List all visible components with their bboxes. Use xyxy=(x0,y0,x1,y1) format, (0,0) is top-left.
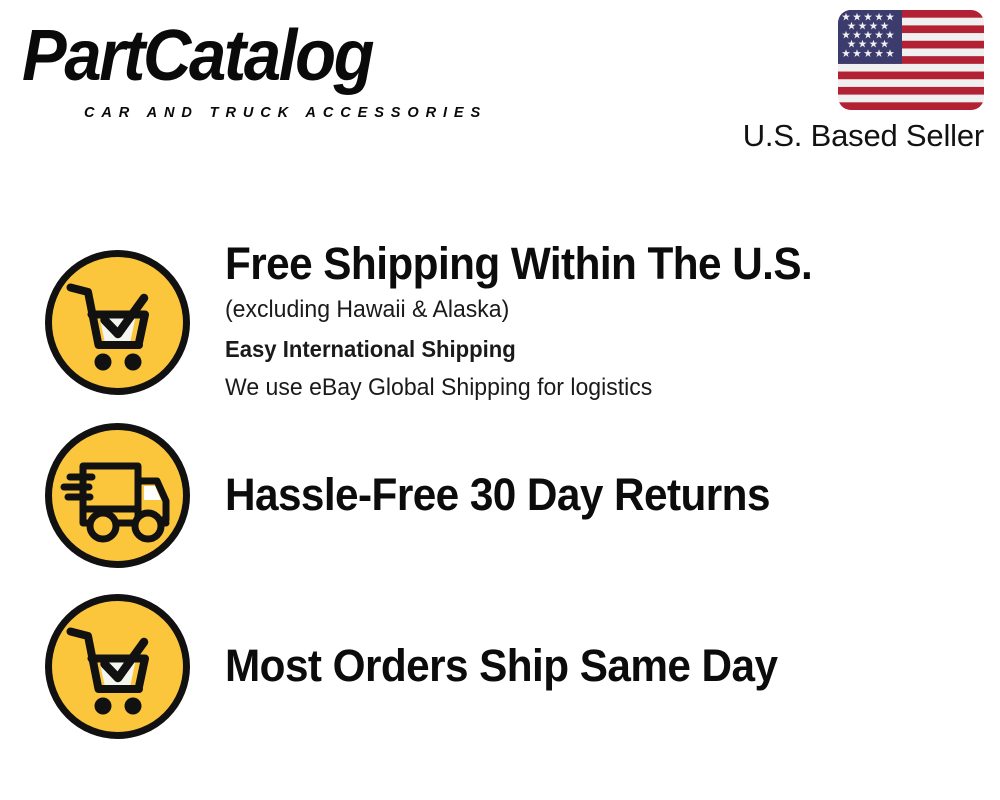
us-flag-icon xyxy=(838,10,984,110)
feature-text-block: Most Orders Ship Same Day xyxy=(225,593,1000,740)
feature-headline: Hassle-Free 30 Day Returns xyxy=(225,469,770,521)
feature-subline-excluding: (excluding Hawaii & Alaska) xyxy=(225,290,959,330)
feature-row-returns: Hassle-Free 30 Day Returns xyxy=(0,420,1000,570)
feature-row-same-day-ship: Most Orders Ship Same Day xyxy=(0,592,1000,740)
brand-wordmark: PartCatalog xyxy=(22,18,372,94)
feature-text-block: Hassle-Free 30 Day Returns xyxy=(225,422,1000,569)
shopping-cart-check-icon xyxy=(44,249,191,396)
us-based-seller-label: U.S. Based Seller xyxy=(743,118,984,154)
page-header: PartCatalog CAR AND TRUCK ACCESSORIES xyxy=(0,0,1000,175)
shopping-cart-check-icon xyxy=(44,593,191,740)
feature-headline: Free Shipping Within The U.S. xyxy=(225,238,944,290)
delivery-truck-icon xyxy=(44,422,191,569)
feature-subline-international: Easy International Shipping xyxy=(225,330,959,368)
feature-subline-ebay-logistics: We use eBay Global Shipping for logistic… xyxy=(225,368,959,408)
brand-logo[interactable]: PartCatalog CAR AND TRUCK ACCESSORIES xyxy=(22,18,492,118)
feature-row-free-shipping: Free Shipping Within The U.S. (excluding… xyxy=(0,240,1000,405)
brand-tagline: CAR AND TRUCK ACCESSORIES xyxy=(84,104,487,121)
feature-headline: Most Orders Ship Same Day xyxy=(225,640,777,692)
feature-text-block: Free Shipping Within The U.S. (excluding… xyxy=(225,238,1000,408)
